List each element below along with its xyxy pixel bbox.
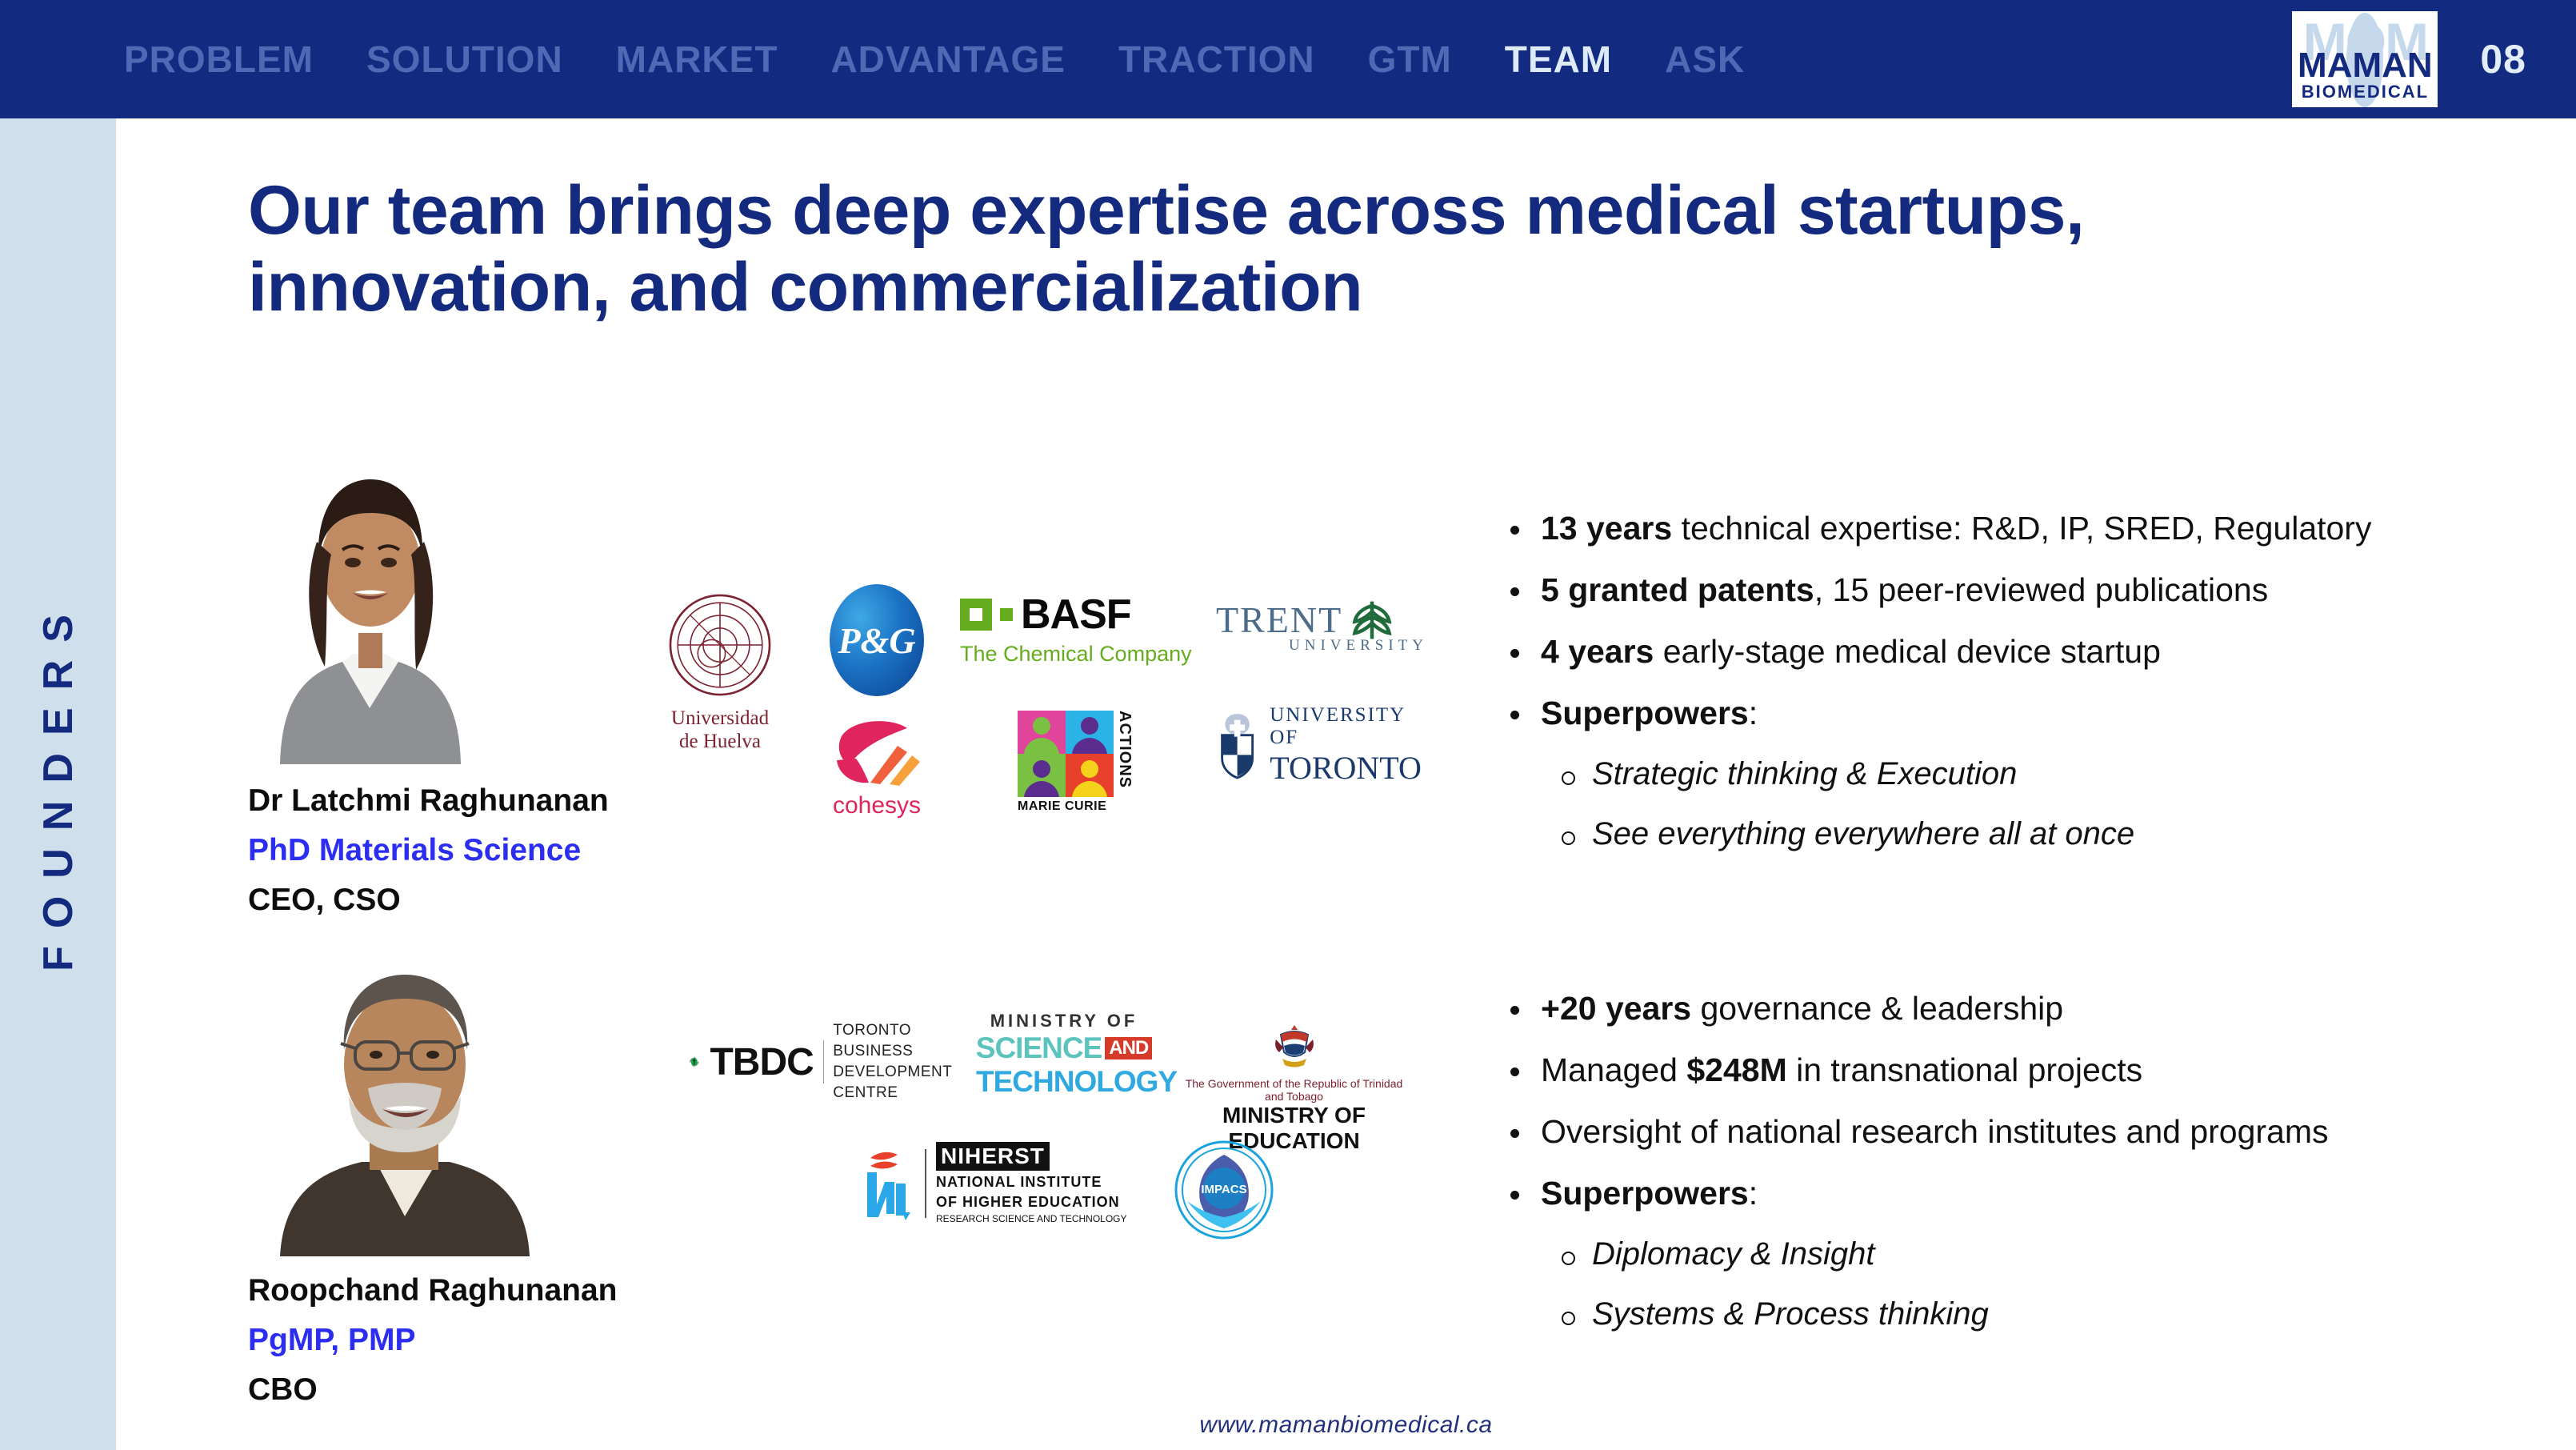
nav-item-traction[interactable]: TRACTION	[1092, 0, 1342, 118]
most-science-label: SCIENCE	[976, 1031, 1102, 1065]
marie-curie-label: MARIE CURIE	[1018, 799, 1162, 814]
bullet-item: Superpowers:	[1504, 683, 2560, 744]
bullet-item: 5 granted patents, 15 peer-reviewed publ…	[1504, 559, 2560, 621]
sub-bullet-item: Diplomacy & Insight	[1504, 1224, 2568, 1284]
nav-item-problem[interactable]: PROBLEM	[98, 0, 340, 118]
niherst-mark-icon	[856, 1145, 915, 1222]
bullet-bold: +20 years	[1541, 990, 1691, 1027]
bullet-rest: in transnational projects	[1787, 1051, 2142, 1088]
founder-1-bullets: 13 years technical expertise: R&D, IP, S…	[1504, 498, 2560, 864]
nav-item-market[interactable]: MARKET	[590, 0, 805, 118]
avatar-latchmi-graphic	[248, 444, 492, 764]
most-line2-row: SCIENCE AND	[976, 1031, 1152, 1065]
nav-items: PROBLEM SOLUTION MARKET ADVANTAGE TRACTI…	[98, 0, 1771, 118]
founder-2-role: CBO	[248, 1365, 618, 1415]
most-line3: TECHNOLOGY	[976, 1065, 1152, 1099]
founder-1-credential: PhD Materials Science	[248, 826, 609, 875]
trent-row: TRENT	[1216, 599, 1428, 642]
marie-curie-actions-side-label: ACTIONS	[1115, 711, 1134, 788]
avatar-roopchand	[248, 952, 560, 1256]
logo-university-of-toronto: UNIVERSITY OF TORONTO	[1216, 704, 1432, 787]
logo-cohesys: cohesys	[813, 712, 941, 819]
bullet-item: Managed $248M in transnational projects	[1504, 1039, 2568, 1101]
avatar-roopchand-graphic	[248, 952, 560, 1256]
page-title: Our team brings deep expertise across me…	[248, 172, 2296, 326]
bullet-bold: 13 years	[1541, 510, 1672, 547]
niherst-sub1: NATIONAL INSTITUTE	[936, 1174, 1127, 1191]
nav-item-gtm[interactable]: GTM	[1342, 0, 1478, 118]
sub-bullet-item: Strategic thinking & Execution	[1504, 744, 2560, 804]
slide-root: PROBLEM SOLUTION MARKET ADVANTAGE TRACTI…	[0, 0, 2576, 1450]
niherst-text-block: NIHERST NATIONAL INSTITUTE OF HIGHER EDU…	[936, 1142, 1127, 1224]
niherst-divider	[925, 1149, 926, 1218]
logo-trent-university: TRENT UNIVERSITY	[1216, 599, 1428, 655]
sub-bullet-item: Systems & Process thinking	[1504, 1284, 2568, 1344]
pg-ellipse-icon: P&G	[830, 584, 924, 696]
impacs-seal-icon: IMPACS	[1174, 1140, 1274, 1240]
cohesys-mark-icon	[829, 712, 925, 789]
avatar-latchmi	[248, 444, 492, 764]
most-and-badge: AND	[1105, 1037, 1152, 1059]
marie-curie-grid-icon	[1018, 711, 1114, 797]
niherst-sub3: RESEARCH SCIENCE AND TECHNOLOGY	[936, 1213, 1127, 1224]
bullet-rest: technical expertise: R&D, IP, SRED, Regu…	[1672, 510, 2371, 547]
moe-line1: The Government of the Republic of Trinid…	[1184, 1077, 1404, 1103]
bullet-rest: , 15 peer-reviewed publications	[1814, 571, 2269, 608]
bullet-item: +20 years governance & leadership	[1504, 978, 2568, 1039]
niherst-label: NIHERST	[936, 1142, 1050, 1171]
basf-square-icon	[960, 599, 992, 631]
cohesys-label: cohesys	[813, 792, 941, 819]
tbdc-label: TBDC	[710, 1040, 813, 1084]
bullet-rest: early-stage medical device startup	[1654, 633, 2161, 670]
page-number: 08	[2480, 36, 2526, 82]
logo-niherst: NIHERST NATIONAL INSTITUTE OF HIGHER EDU…	[856, 1142, 1144, 1224]
founder-1-role: CEO, CSO	[248, 875, 609, 925]
nav-item-team[interactable]: TEAM	[1478, 0, 1638, 118]
bullet-bold: $248M	[1686, 1051, 1786, 1088]
logo-basf: BASF The Chemical Company	[960, 591, 1192, 667]
sidebar-label-founders: FOUNDERS	[34, 597, 82, 971]
bullet-item: Superpowers:	[1504, 1163, 2568, 1224]
huelva-seal-icon	[667, 592, 773, 698]
founder-2-name: Roopchand Raghunanan	[248, 1266, 618, 1316]
founders-sidebar: FOUNDERS	[0, 118, 116, 1450]
founder-2-bullets: +20 years governance & leadership Manage…	[1504, 978, 2568, 1344]
founder-1-name: Dr Latchmi Raghunanan	[248, 776, 609, 826]
uoft-crest-icon	[1216, 709, 1258, 783]
bullet-bold: Superpowers	[1541, 1175, 1749, 1212]
tbdc-sublabel: TORONTO BUSINESS DEVELOPMENT CENTRE	[833, 1020, 952, 1104]
bullet-rest: governance & leadership	[1691, 990, 2063, 1027]
founder-2-logo-cluster: TBDC TORONTO BUSINESS DEVELOPMENT CENTRE…	[688, 1020, 1456, 1236]
trent-label: TRENT	[1216, 599, 1342, 641]
uoft-row: UNIVERSITY OF TORONTO	[1216, 704, 1432, 787]
bullet-bold: 5 granted patents	[1541, 571, 1814, 608]
bullet-item: 13 years technical expertise: R&D, IP, S…	[1504, 498, 2560, 559]
logo-marie-curie-actions: ACTIONS MARIE CURIE	[1018, 711, 1162, 814]
logo-impacs: IMPACS	[1168, 1140, 1280, 1244]
bullet-item: 4 years early-stage medical device start…	[1504, 621, 2560, 683]
basf-tagline: The Chemical Company	[960, 642, 1192, 667]
founder-1-logo-cluster: Universidad de Huelva P&G cohesys BASF	[656, 584, 1424, 800]
footer-url[interactable]: www.mamanbiomedical.ca	[116, 1412, 2576, 1439]
logo-company-name: MAMAN	[2292, 46, 2438, 85]
bullet-bold: 4 years	[1541, 633, 1654, 670]
bullet-bold: Superpowers	[1541, 695, 1749, 731]
niherst-sub2: OF HIGHER EDUCATION	[936, 1194, 1127, 1211]
founder-1-name-block: Dr Latchmi Raghunanan PhD Materials Scie…	[248, 776, 609, 925]
bullet-rest: :	[1749, 1175, 1758, 1212]
logo-tbdc: TBDC TORONTO BUSINESS DEVELOPMENT CENTRE	[688, 1020, 952, 1104]
svg-text:IMPACS: IMPACS	[1201, 1183, 1246, 1196]
logo-universidad-de-huelva: Universidad de Huelva	[656, 592, 784, 753]
uoft-text-block: UNIVERSITY OF TORONTO	[1270, 704, 1432, 787]
nav-item-solution[interactable]: SOLUTION	[340, 0, 590, 118]
trent-leaf-icon	[1350, 599, 1394, 642]
huelva-label: Universidad de Huelva	[656, 707, 784, 753]
most-line1: MINISTRY OF	[976, 1011, 1152, 1031]
logo-pg: P&G	[813, 584, 941, 696]
logo-ministry-science-technology: MINISTRY OF SCIENCE AND TECHNOLOGY	[976, 1011, 1152, 1099]
bullet-rest: Oversight of national research institute…	[1541, 1113, 2329, 1150]
uoft-line1: UNIVERSITY OF	[1270, 704, 1432, 749]
pg-label: P&G	[838, 619, 915, 662]
basf-label: BASF	[1021, 591, 1131, 639]
nav-item-advantage[interactable]: ADVANTAGE	[804, 0, 1092, 118]
founder-2-credential: PgMP, PMP	[248, 1316, 618, 1365]
top-navigation: PROBLEM SOLUTION MARKET ADVANTAGE TRACTI…	[0, 0, 2576, 118]
basf-dot-icon	[1000, 608, 1013, 621]
bullet-rest: :	[1749, 695, 1758, 731]
founder-2-name-block: Roopchand Raghunanan PgMP, PMP CBO	[248, 1266, 618, 1415]
bullet-item: Oversight of national research institute…	[1504, 1101, 2568, 1163]
uoft-line2: TORONTO	[1270, 749, 1432, 787]
nav-item-ask[interactable]: ASK	[1638, 0, 1771, 118]
maman-biomedical-logo: MOM MAMAN BIOMEDICAL	[2290, 9, 2440, 110]
logo-subtitle: BIOMEDICAL	[2292, 82, 2438, 102]
tbdc-arrow-icon	[688, 1036, 700, 1087]
trinidad-coat-of-arms-icon	[1273, 1023, 1316, 1070]
basf-top-row: BASF	[960, 591, 1192, 639]
sub-bullet-item: See everything everywhere all at once	[1504, 804, 2560, 864]
logo-ministry-of-education: The Government of the Republic of Trinid…	[1184, 1023, 1404, 1154]
nav-right-group: MOM MAMAN BIOMEDICAL 08	[2290, 0, 2576, 118]
bullet-pre: Managed	[1541, 1051, 1686, 1088]
